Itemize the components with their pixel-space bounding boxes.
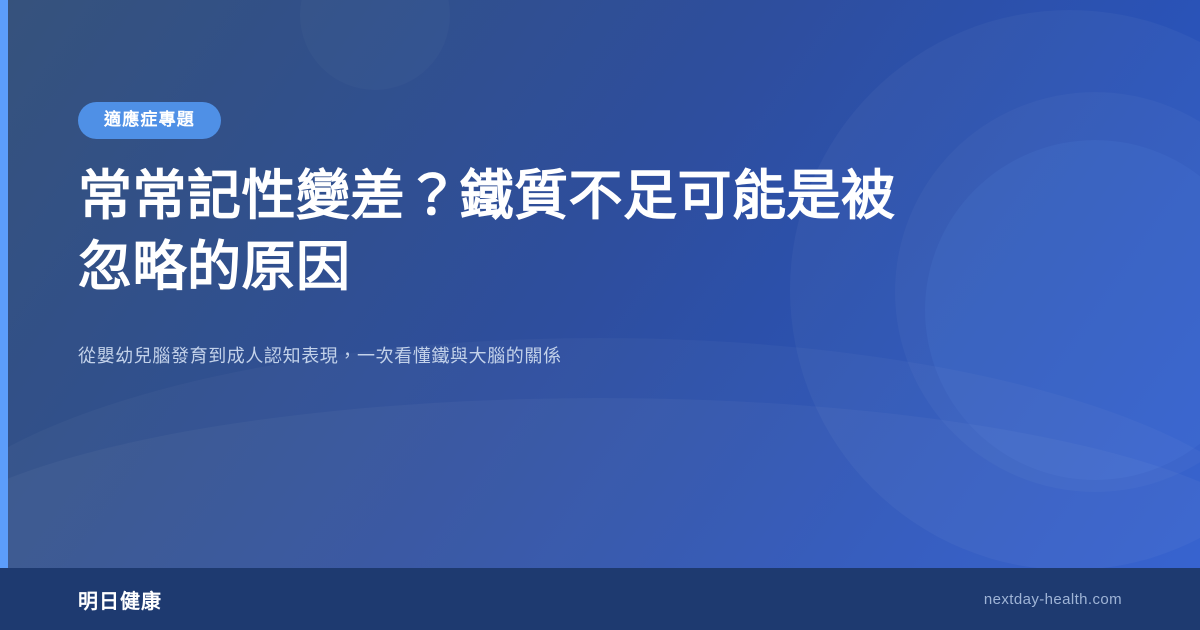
card-content: 適應症專題 常常記性變差？鐵質不足可能是被忽略的原因 從嬰幼兒腦發育到成人認知表… <box>78 0 1040 370</box>
left-accent-bar <box>0 0 8 568</box>
card-footer: 明日健康 nextday-health.com <box>0 568 1200 630</box>
brand-name: 明日健康 <box>78 585 162 614</box>
site-url[interactable]: nextday-health.com <box>984 591 1122 608</box>
category-badge[interactable]: 適應症專題 <box>78 102 221 139</box>
decorative-wave-back <box>0 338 1200 568</box>
page-subtitle: 從嬰幼兒腦發育到成人認知表現，一次看懂鐵與大腦的關係 <box>78 342 838 371</box>
social-share-card: 適應症專題 常常記性變差？鐵質不足可能是被忽略的原因 從嬰幼兒腦發育到成人認知表… <box>0 0 1200 630</box>
decorative-wave-front <box>0 398 1200 568</box>
page-title: 常常記性變差？鐵質不足可能是被忽略的原因 <box>78 161 908 304</box>
